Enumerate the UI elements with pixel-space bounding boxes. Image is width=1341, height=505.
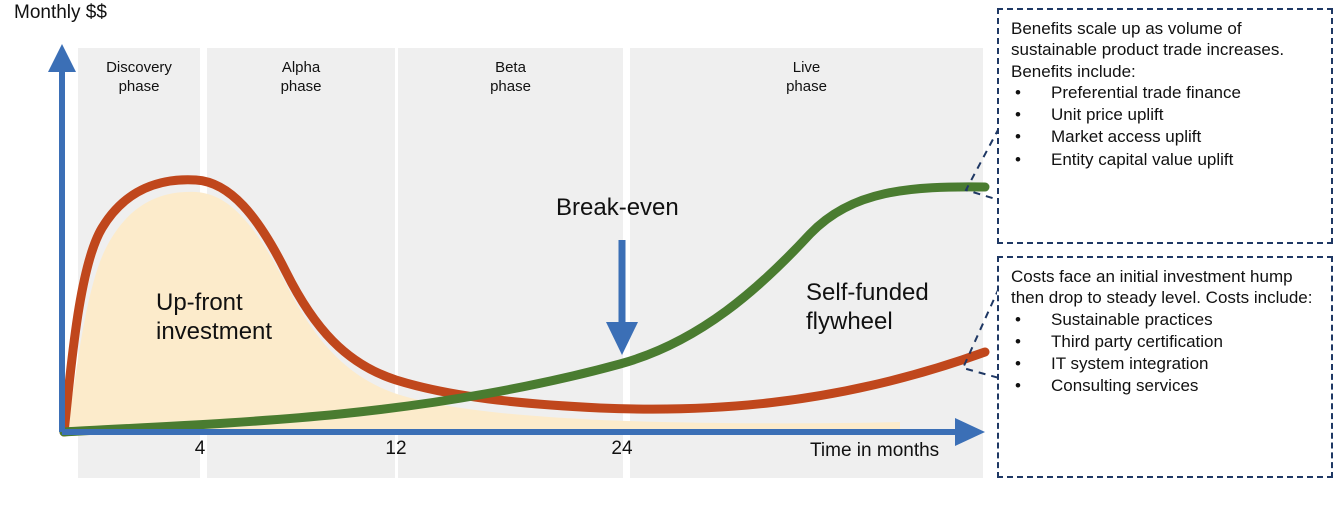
costs-item: IT system integration xyxy=(1011,353,1321,375)
y-axis-title: Monthly $$ xyxy=(14,2,107,24)
diagram-canvas: Monthly $$ Time in months Discovery phas… xyxy=(0,0,1341,505)
phase-label-alpha: Alpha phase xyxy=(207,58,395,96)
phase-label-discovery: Discovery phase xyxy=(78,58,200,96)
costs-item: Consulting services xyxy=(1011,375,1321,397)
x-axis-title: Time in months xyxy=(810,440,939,462)
benefits-item: Preferential trade finance xyxy=(1011,82,1321,104)
benefits-callout-intro: Benefits scale up as volume of sustainab… xyxy=(1011,18,1321,82)
benefits-callout: Benefits scale up as volume of sustainab… xyxy=(997,8,1333,244)
label-upfront-investment: Up-front investment xyxy=(156,288,272,347)
costs-item: Third party certification xyxy=(1011,331,1321,353)
x-tick-24: 24 xyxy=(596,438,648,460)
x-tick-12: 12 xyxy=(370,438,422,460)
benefits-item: Unit price uplift xyxy=(1011,104,1321,126)
benefits-item: Entity capital value uplift xyxy=(1011,149,1321,171)
costs-callout: Costs face an initial investment hump th… xyxy=(997,256,1333,478)
phase-label-live: Live phase xyxy=(630,58,983,96)
label-self-funded-flywheel: Self-funded flywheel xyxy=(806,278,929,337)
benefits-item: Market access uplift xyxy=(1011,126,1321,148)
costs-callout-intro: Costs face an initial investment hump th… xyxy=(1011,266,1321,309)
phase-label-beta: Beta phase xyxy=(398,58,623,96)
costs-callout-list: Sustainable practices Third party certif… xyxy=(1011,309,1321,397)
label-breakeven: Break-even xyxy=(556,194,679,222)
benefits-callout-list: Preferential trade finance Unit price up… xyxy=(1011,82,1321,170)
phase-band-live xyxy=(630,48,983,478)
x-tick-4: 4 xyxy=(174,438,226,460)
costs-item: Sustainable practices xyxy=(1011,309,1321,331)
